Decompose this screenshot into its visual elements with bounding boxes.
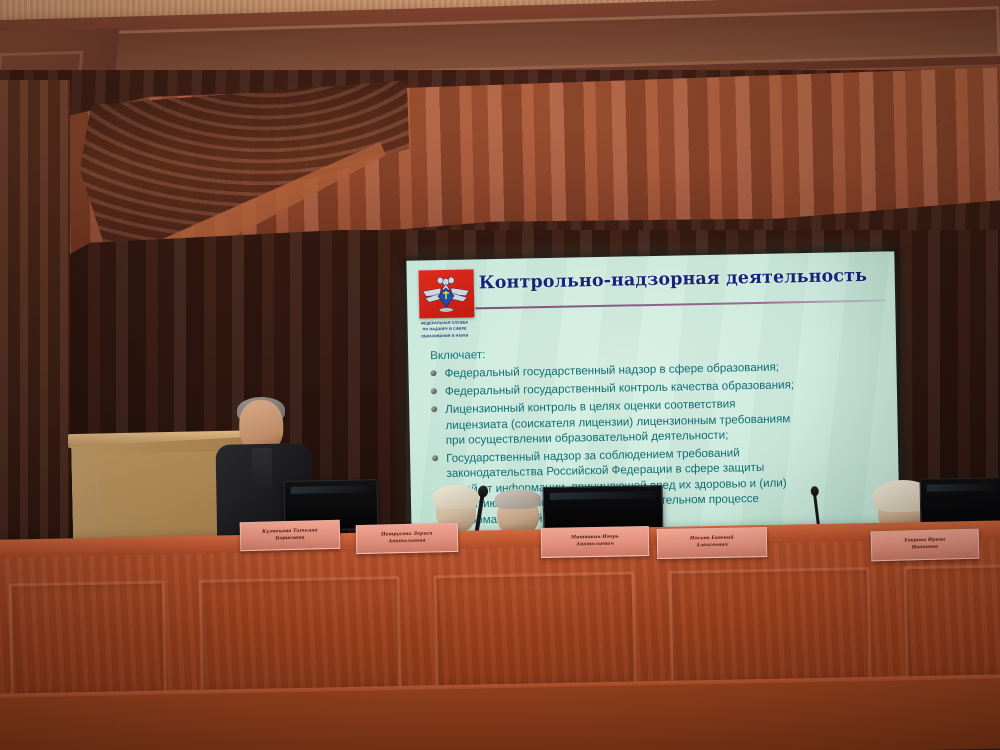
- nameplate-3: Митюшин Игорь Анатольевич: [541, 526, 650, 558]
- monitor-screen-glow: [291, 485, 371, 494]
- monitor-screen-glow: [550, 491, 656, 500]
- table-panel-4: [668, 567, 871, 685]
- bullet-dot-icon: [430, 371, 436, 377]
- table-panel-1: [9, 581, 167, 698]
- nameplate-2-line-2: Анатольевна: [388, 538, 425, 545]
- presenter-shirt: [252, 448, 273, 488]
- emblem-caption-line-3: ОБРАЗОВАНИЯ И НАУКИ: [412, 332, 478, 340]
- nameplate-5-line-2: Ивановна: [912, 545, 939, 552]
- stage-curtain-left: [0, 80, 70, 550]
- bullet-dot-icon: [432, 455, 438, 461]
- slide-bullet-3: Лицензионный контроль в целях оценки соо…: [425, 394, 890, 449]
- nameplate-4: Носков Евгений Алексеевич: [657, 527, 768, 559]
- double-headed-eagle-icon: [421, 272, 472, 315]
- rosobrnadzor-emblem-icon: [419, 269, 475, 318]
- emblem-caption: ФЕДЕРАЛЬНАЯ СЛУЖБА ПО НАДЗОРУ В СФЕРЕ ОБ…: [412, 319, 478, 339]
- panelist-hair: [433, 485, 479, 510]
- nameplate-2: Петрусева Лариса Анатольевна: [356, 523, 459, 554]
- panelist-hair: [495, 489, 541, 510]
- table-panel-2: [199, 576, 402, 694]
- monitor-screen-glow: [927, 483, 995, 491]
- conference-hall-photo: ФЕДЕРАЛЬНАЯ СЛУЖБА ПО НАДЗОРУ В СФЕРЕ ОБ…: [0, 0, 1000, 750]
- table-panel-3: [433, 571, 636, 689]
- nameplate-4-line-2: Алексеевич: [696, 543, 728, 550]
- nameplate-5: Егорова Ирина Ивановна: [871, 529, 980, 562]
- bullet-dot-icon: [431, 388, 437, 394]
- bullet-dot-icon: [431, 406, 437, 412]
- nameplate-3-line-2: Анатольевич: [576, 542, 614, 549]
- nameplate-1: Кузнецова Татьяна Борисовна: [240, 520, 341, 551]
- table-panel-5: [903, 564, 1000, 680]
- nameplate-1-line-2: Борисовна: [275, 535, 304, 542]
